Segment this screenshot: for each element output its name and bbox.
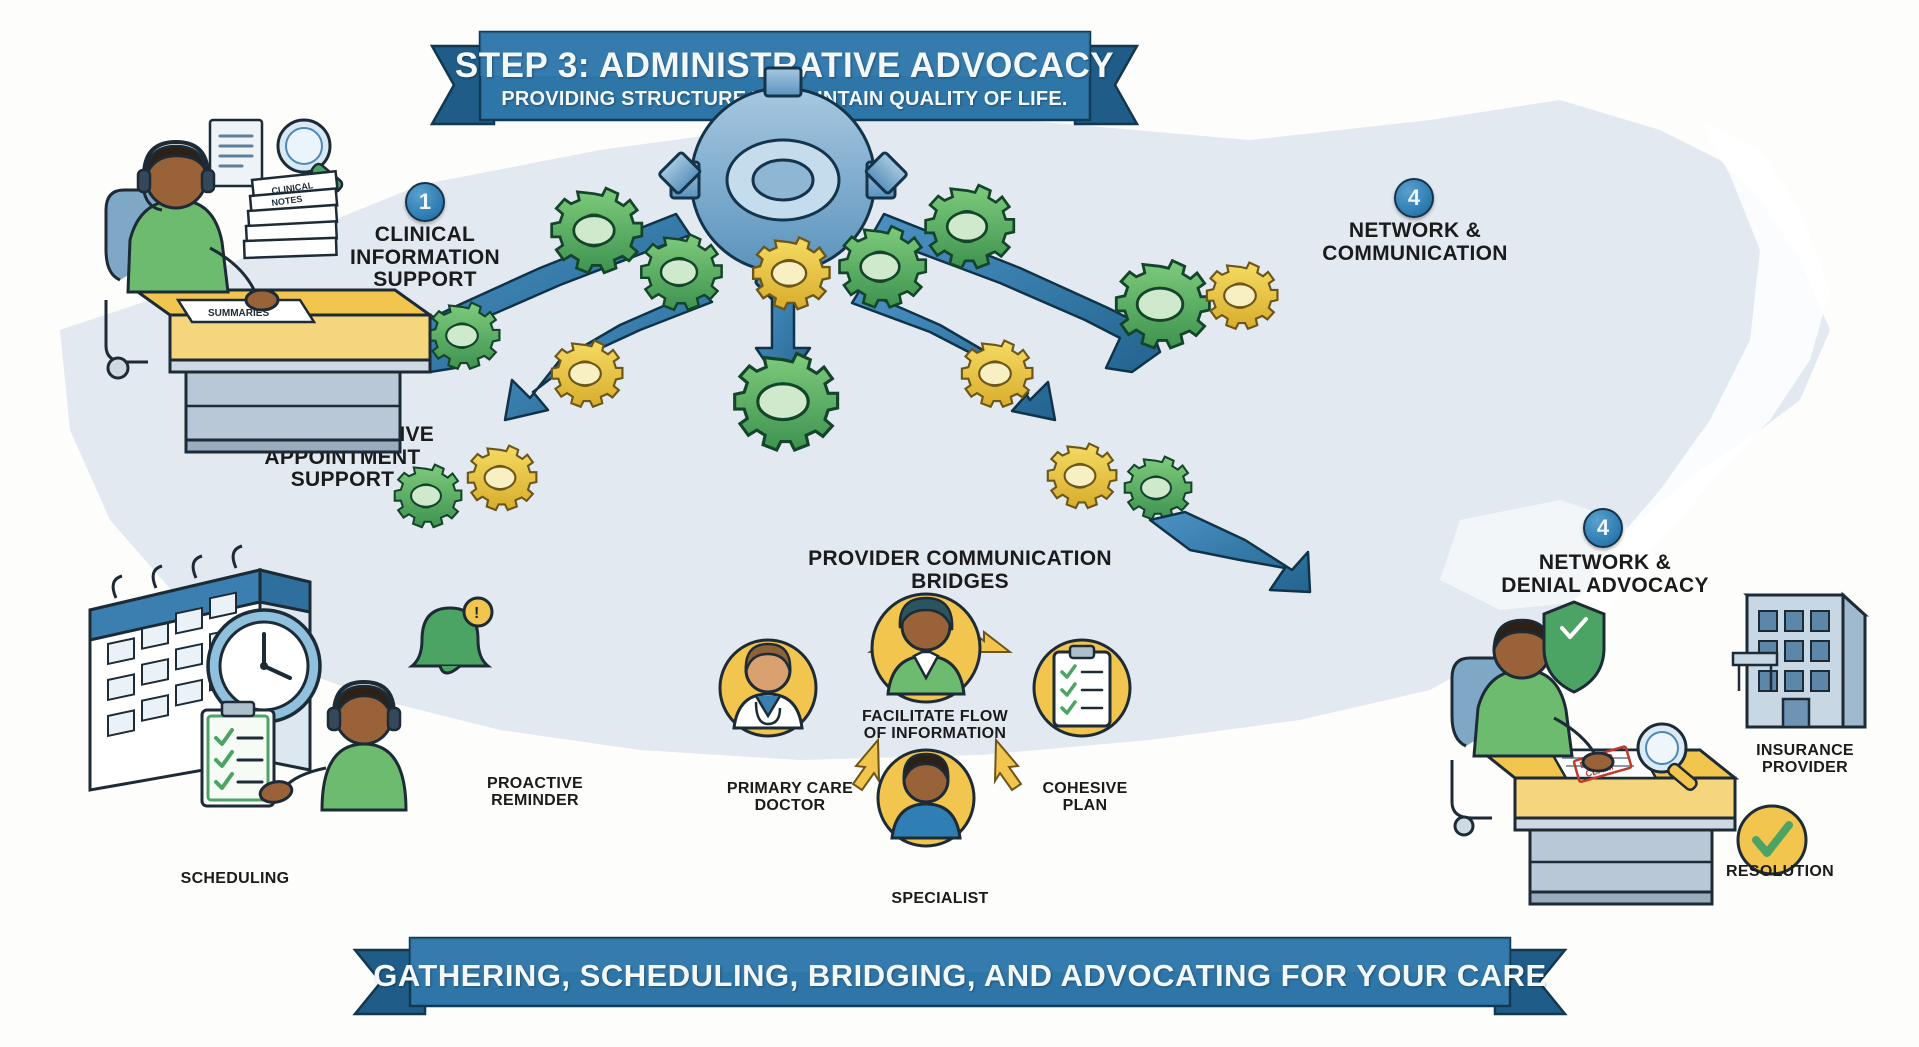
- caption-scheduling: SCHEDULING: [150, 870, 320, 887]
- document-icon: [210, 120, 262, 186]
- footer-ribbon: GATHERING, SCHEDULING, BRIDGING, AND ADV…: [355, 938, 1565, 1018]
- caption-insurance-provider: INSURANCE PROVIDER: [1720, 742, 1890, 777]
- label-line-1: NETWORK &: [1290, 220, 1540, 243]
- label-network-communication: NETWORK & COMMUNICATION: [1290, 220, 1540, 265]
- caption-line-2: PROVIDER: [1720, 759, 1890, 776]
- label-line-1: NETWORK &: [1470, 552, 1740, 575]
- avatar-primary-care-doctor: [720, 640, 816, 736]
- icon-insurance-building: [1725, 565, 1885, 745]
- caption-proactive-reminder: PROACTIVE REMINDER: [450, 775, 620, 810]
- label-provider-communication-bridges: PROVIDER COMMUNICATION BRIDGES: [770, 548, 1150, 593]
- infographic-canvas: STEP 3: ADMINISTRATIVE ADVOCACY PROVIDIN…: [0, 0, 1919, 1047]
- badge-4-network-communication: 4: [1394, 178, 1434, 218]
- label-specialist: SPECIALIST: [840, 890, 1040, 907]
- label-line-1: PRIMARY CARE: [700, 780, 880, 797]
- label-line-2: COMMUNICATION: [1290, 243, 1540, 266]
- label-line-2: DENIAL ADVOCACY: [1470, 575, 1740, 598]
- label-primary-care-doctor: PRIMARY CARE DOCTOR: [700, 780, 880, 815]
- scene-clinical-information: CLINICAL NOTES SUMMARIES: [100, 110, 450, 470]
- label-line-1: PROVIDER COMMUNICATION: [770, 548, 1150, 571]
- provider-bridge-cluster: [700, 590, 1150, 920]
- caption-line-1: INSURANCE: [1720, 742, 1890, 759]
- label-line-2: PLAN: [1005, 797, 1165, 814]
- label-line-3: SUPPORT: [245, 469, 440, 492]
- avatar-specialist: [878, 750, 974, 846]
- label-facilitate-flow: FACILITATE FLOW OF INFORMATION: [835, 708, 1035, 743]
- label-line-1: COHESIVE: [1005, 780, 1165, 797]
- avatar-cohesive-plan: [1034, 640, 1130, 736]
- arrow-to-denial-scene: [1150, 512, 1310, 592]
- caption-line-2: REMINDER: [450, 792, 620, 809]
- label-line-2: OF INFORMATION: [835, 725, 1035, 742]
- clinical-notes-stack: CLINICAL NOTES: [244, 171, 337, 258]
- label-network-denial-advocacy: NETWORK & DENIAL ADVOCACY: [1470, 552, 1740, 597]
- svg-text:!: !: [474, 605, 479, 622]
- shield-icon: [1544, 602, 1604, 692]
- badge-4-denial-advocacy: 4: [1583, 508, 1623, 548]
- bell-notification-icon: !: [412, 598, 492, 673]
- label-cohesive-plan: COHESIVE PLAN: [1005, 780, 1165, 815]
- caption-resolution: RESOLUTION: [1705, 863, 1855, 880]
- caption-line-1: PROACTIVE: [450, 775, 620, 792]
- avatar-advocate: [872, 594, 980, 702]
- label-line-2: DOCTOR: [700, 797, 880, 814]
- label-line-1: FACILITATE FLOW: [835, 708, 1035, 725]
- footer-text: GATHERING, SCHEDULING, BRIDGING, AND ADV…: [355, 958, 1565, 994]
